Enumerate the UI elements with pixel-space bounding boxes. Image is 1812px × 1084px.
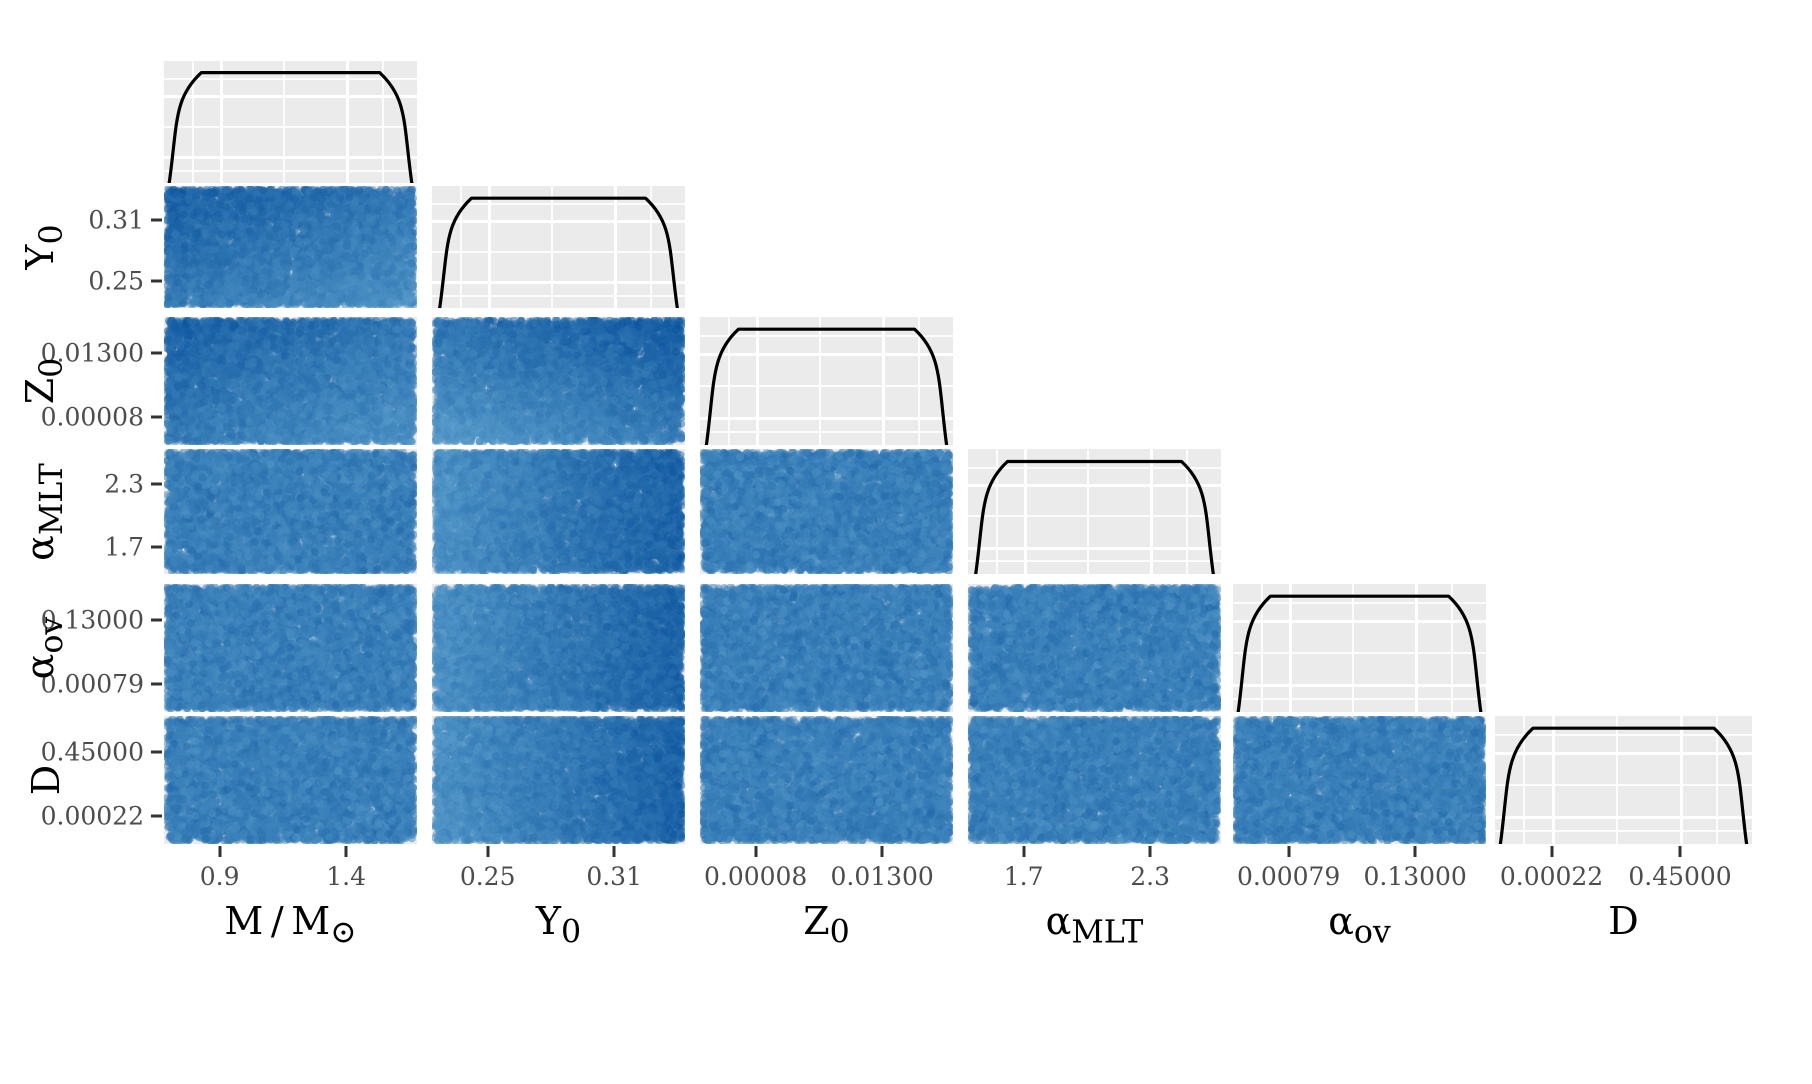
axis-title-x-aov: αov xyxy=(1328,902,1391,952)
axis-title-x-y0: Y0 xyxy=(536,902,581,952)
scatter-points xyxy=(700,584,953,712)
y-tick-label: 0.25 xyxy=(88,269,144,294)
x-tick-label: 0.00079 xyxy=(1237,864,1340,889)
scatter-points xyxy=(432,584,685,712)
y-tick-mark xyxy=(151,545,162,548)
axis-title-y-y0: Y0 xyxy=(21,224,71,269)
x-tick-mark xyxy=(754,846,757,857)
scatter-points xyxy=(968,716,1221,844)
density-path xyxy=(1500,728,1746,844)
x-tick-mark xyxy=(613,846,616,857)
y-tick-mark xyxy=(151,351,162,354)
density-panel-amlt xyxy=(968,449,1221,574)
density-panel-aov xyxy=(1233,584,1486,712)
scatter-panel-y0-vs-diff xyxy=(432,716,685,844)
x-tick-label: 0.13000 xyxy=(1363,864,1466,889)
x-tick-label: 0.45000 xyxy=(1628,864,1731,889)
x-tick-mark xyxy=(1022,846,1025,857)
y-tick-label: 1.7 xyxy=(104,534,144,559)
x-tick-label: 0.00022 xyxy=(1500,864,1603,889)
density-path xyxy=(976,462,1214,575)
y-tick-mark xyxy=(151,618,162,621)
scatter-panel-mass-vs-z0 xyxy=(164,317,417,445)
density-curve-aov xyxy=(1233,584,1486,712)
density-path xyxy=(706,329,946,445)
scatter-panel-z0-vs-diff xyxy=(700,716,953,844)
axis-title-y-amlt: αMLT xyxy=(21,463,71,561)
x-tick-mark xyxy=(1414,846,1417,857)
scatter-panel-z0-vs-amlt xyxy=(700,449,953,574)
x-tick-label: 0.25 xyxy=(460,864,516,889)
x-tick-label: 0.31 xyxy=(586,864,642,889)
x-tick-mark xyxy=(1679,846,1682,857)
y-tick-label: 2.3 xyxy=(104,472,144,497)
axis-title-x-mass: M / M⊙ xyxy=(224,902,356,952)
y-tick-label: 0.45000 xyxy=(41,739,144,764)
scatter-panel-z0-vs-aov xyxy=(700,584,953,712)
scatter-panel-mass-vs-amlt xyxy=(164,449,417,574)
density-curve-z0 xyxy=(700,317,953,445)
y-tick-mark xyxy=(151,483,162,486)
x-tick-label: 0.9 xyxy=(200,864,240,889)
scatter-points xyxy=(700,716,953,844)
density-path xyxy=(1238,596,1481,712)
x-tick-label: 1.4 xyxy=(326,864,366,889)
scatter-panel-y0-vs-aov xyxy=(432,584,685,712)
x-tick-mark xyxy=(486,846,489,857)
scatter-panel-amlt-vs-aov xyxy=(968,584,1221,712)
axis-title-y-diff: D xyxy=(27,765,65,795)
density-path xyxy=(440,198,678,308)
scatter-points xyxy=(164,584,417,712)
axis-title-y-z0: Z0 xyxy=(21,358,71,405)
axis-title-x-z0: Z0 xyxy=(803,902,850,952)
y-tick-mark xyxy=(151,682,162,685)
scatter-points xyxy=(164,317,417,445)
axis-title-x-amlt: αMLT xyxy=(1046,902,1144,952)
y-tick-label: 0.31 xyxy=(88,208,144,233)
x-tick-label: 1.7 xyxy=(1004,864,1044,889)
density-path xyxy=(169,73,412,183)
y-tick-mark xyxy=(151,219,162,222)
x-tick-mark xyxy=(1149,846,1152,857)
density-panel-diff xyxy=(1495,716,1752,844)
y-tick-label: 0.00022 xyxy=(41,803,144,828)
x-tick-mark xyxy=(1550,846,1553,857)
scatter-panel-y0-vs-amlt xyxy=(432,449,685,574)
scatter-panel-aov-vs-diff xyxy=(1233,716,1486,844)
scatter-panel-mass-vs-diff xyxy=(164,716,417,844)
scatter-points xyxy=(968,584,1221,712)
axis-title-y-aov: αov xyxy=(21,617,71,680)
axis-title-x-diff: D xyxy=(1608,902,1638,940)
scatter-panel-mass-vs-aov xyxy=(164,584,417,712)
y-tick-mark xyxy=(151,280,162,283)
density-panel-y0 xyxy=(432,186,685,308)
scatter-panel-y0-vs-z0 xyxy=(432,317,685,445)
x-tick-mark xyxy=(345,846,348,857)
corner-plot-figure: 0.250.31Y00.000080.01300Z01.72.3αMLT0.00… xyxy=(0,0,1812,1084)
y-tick-mark xyxy=(151,814,162,817)
density-curve-diff xyxy=(1495,716,1752,844)
scatter-points xyxy=(1233,716,1486,844)
density-panel-z0 xyxy=(700,317,953,445)
scatter-panel-amlt-vs-diff xyxy=(968,716,1221,844)
scatter-points xyxy=(432,716,685,844)
y-tick-label: 0.00008 xyxy=(41,404,144,429)
scatter-panel-mass-vs-y0 xyxy=(164,186,417,308)
scatter-points xyxy=(432,317,685,445)
scatter-points xyxy=(164,716,417,844)
scatter-points xyxy=(164,449,417,574)
density-curve-y0 xyxy=(432,186,685,308)
x-tick-mark xyxy=(218,846,221,857)
scatter-points xyxy=(432,449,685,574)
y-tick-mark xyxy=(151,415,162,418)
scatter-points xyxy=(164,186,417,308)
y-tick-mark xyxy=(151,750,162,753)
x-tick-label: 0.00008 xyxy=(704,864,807,889)
density-curve-amlt xyxy=(968,449,1221,574)
scatter-points xyxy=(700,449,953,574)
x-tick-mark xyxy=(1287,846,1290,857)
density-panel-mass xyxy=(164,61,417,183)
density-curve-mass xyxy=(164,61,417,183)
x-tick-label: 0.01300 xyxy=(830,864,933,889)
x-tick-label: 2.3 xyxy=(1130,864,1170,889)
x-tick-mark xyxy=(881,846,884,857)
